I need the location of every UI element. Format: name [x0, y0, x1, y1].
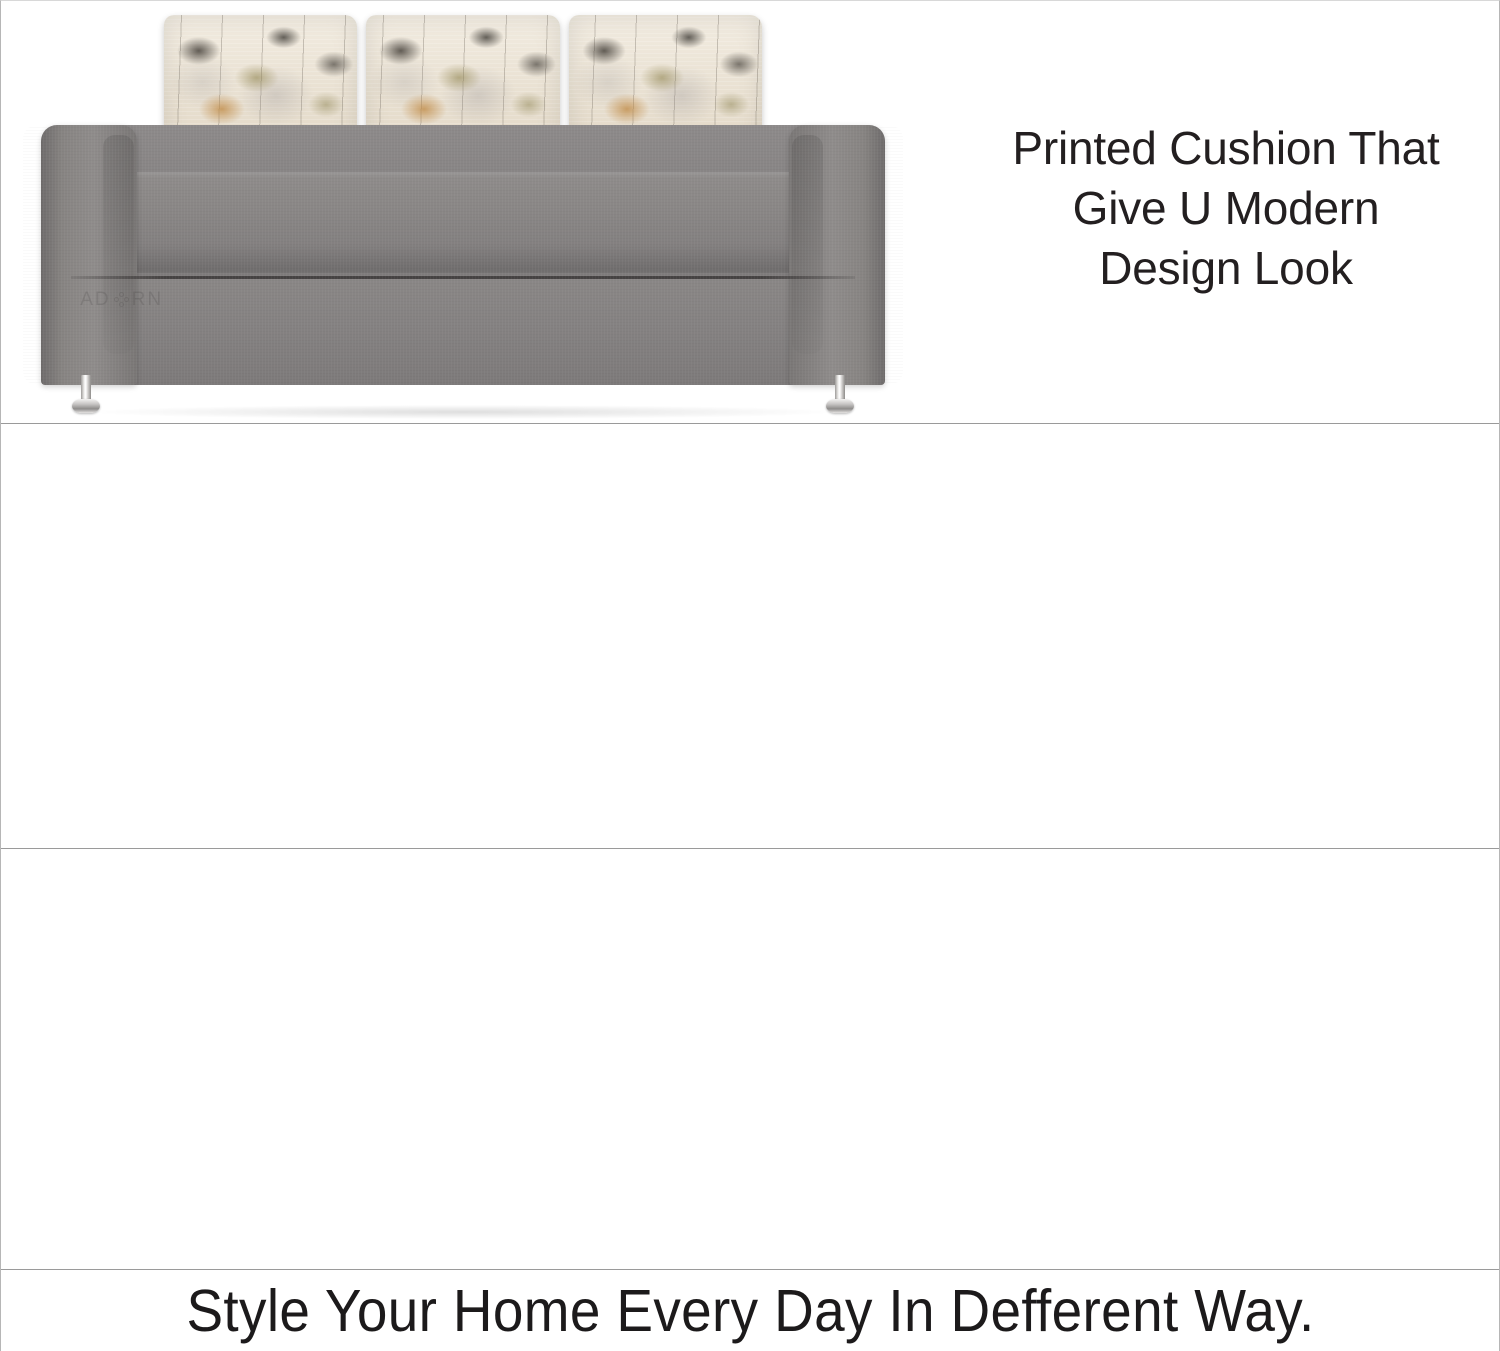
sofa-arm-right [789, 125, 886, 385]
panel-printed-cushion-modern: AD RN Printed Cushion That Give U Modern… [1, 1, 1500, 423]
sofa-arm-left [41, 125, 138, 385]
sofa-body: AD RN [23, 125, 903, 385]
panel-printed-cushion-combination: Printed Cushion With Decent Combination [1, 424, 1500, 848]
sofa: AD RN [23, 15, 903, 415]
sofa-image-panel-1: AD RN [23, 15, 903, 415]
bottom-banner: Style Your Home Every Day In Defferent W… [1, 1270, 1500, 1351]
sofa-base-seam [71, 276, 854, 279]
sofa-leg-right [832, 375, 848, 413]
bottom-banner-text: Style Your Home Every Day In Defferent W… [187, 1277, 1315, 1345]
panel-1-caption: Printed Cushion That Give U Modern Desig… [966, 119, 1486, 298]
product-infographic: AD RN Printed Cushion That Give U Modern… [0, 0, 1500, 1351]
panel-simple-modern-concept: AD RN Simple & Modern Concept [1, 849, 1500, 1269]
sofa-seat [115, 172, 810, 271]
sofa-base [58, 276, 868, 385]
sofa-leg-left [78, 375, 94, 413]
